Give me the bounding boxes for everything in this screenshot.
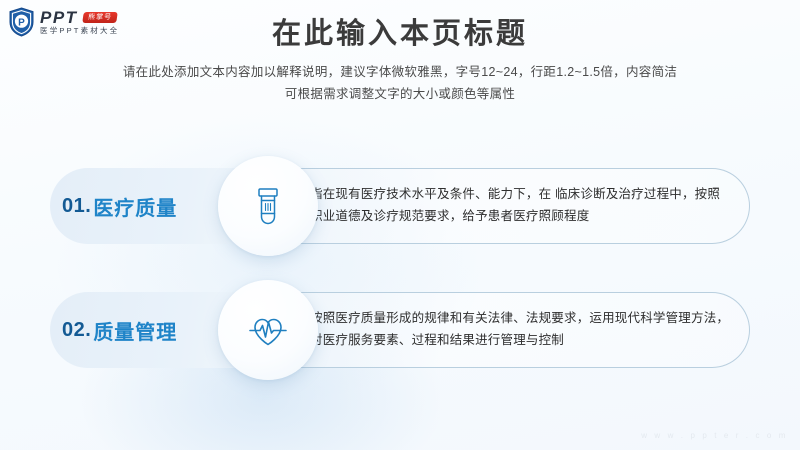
page-title: 在此输入本页标题 [0,16,800,52]
heart-pulse-icon [247,311,289,349]
subtitle-line-1: 请在此处添加文本内容加以解释说明，建议字体微软雅黑，字号12~24，行距1.2~… [0,62,800,84]
card-icon-circle [218,280,318,380]
content-card[interactable]: 02. 质量管理 按照医疗质量形成的规律和有关法律、法规要求，运用现代科学管理方… [0,292,800,368]
subtitle-line-2: 可根据需求调整文字的大小或颜色等属性 [0,84,800,106]
card-number: 02. [62,319,91,342]
test-tube-icon [251,186,285,226]
slide-header: 在此输入本页标题 请在此处添加文本内容加以解释说明，建议字体微软雅黑，字号12~… [0,16,800,106]
card-description: 指在现有医疗技术水平及条件、能力下，在 临床诊断及治疗过程中，按照职业道德及诊疗… [310,184,730,228]
card-description: 按照医疗质量形成的规律和有关法律、法规要求，运用现代科学管理方法，对医疗服务要素… [310,308,730,352]
card-label: 医疗质量 [93,192,177,221]
card-icon-circle [218,156,318,256]
card-heading: 01. 医疗质量 [62,168,177,244]
site-watermark: w w w . p p t e r . c o m [641,431,788,440]
card-body: 按照医疗质量形成的规律和有关法律、法规要求，运用现代科学管理方法，对医疗服务要素… [310,292,730,368]
content-card-list: 01. 医疗质量 指在现有医疗技术水平及条件、能力下，在 临床诊断及治疗过程中，… [0,168,800,416]
card-number: 01. [62,195,91,218]
content-card[interactable]: 01. 医疗质量 指在现有医疗技术水平及条件、能力下，在 临床诊断及治疗过程中，… [0,168,800,244]
card-heading: 02. 质量管理 [62,292,177,368]
card-label: 质量管理 [93,316,177,345]
page-subtitle: 请在此处添加文本内容加以解释说明，建议字体微软雅黑，字号12~24，行距1.2~… [0,62,800,106]
card-body: 指在现有医疗技术水平及条件、能力下，在 临床诊断及治疗过程中，按照职业道德及诊疗… [310,168,730,244]
